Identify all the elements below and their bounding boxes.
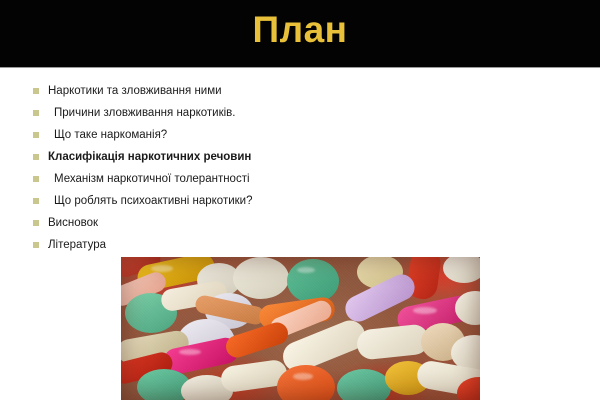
list-item[interactable]: Висновок — [33, 212, 463, 234]
list-item[interactable]: Механізм наркотичної толерантності — [33, 168, 463, 190]
list-item-label: Наркотики та зловживання ними — [48, 84, 222, 98]
bullet-square-icon — [33, 88, 39, 94]
list-item-label: Література — [48, 238, 106, 252]
pills-photo — [121, 257, 480, 400]
list-item-label: Класифікація наркотичних речовин — [48, 150, 251, 164]
list-item[interactable]: Що таке наркоманія? — [33, 124, 463, 146]
bullet-square-icon — [33, 132, 39, 138]
list-item-label: Що таке наркоманія? — [48, 128, 167, 142]
plan-list: Наркотики та зловживання ними Причини зл… — [33, 80, 463, 256]
bullet-square-icon — [33, 242, 39, 248]
bullet-square-icon — [33, 154, 39, 160]
list-item[interactable]: Причини зловживання наркотиків. — [33, 102, 463, 124]
list-item[interactable]: Що роблять психоактивні наркотики? — [33, 190, 463, 212]
bullet-square-icon — [33, 220, 39, 226]
page-title: План — [0, 0, 600, 67]
photo-vignette — [121, 257, 480, 400]
band-divider — [0, 67, 600, 68]
bullet-square-icon — [33, 176, 39, 182]
list-item[interactable]: Наркотики та зловживання ними — [33, 80, 463, 102]
bullet-square-icon — [33, 110, 39, 116]
list-item-label: Механізм наркотичної толерантності — [48, 172, 250, 186]
list-item-label: Висновок — [48, 216, 98, 230]
bullet-square-icon — [33, 198, 39, 204]
list-item-label: Причини зловживання наркотиків. — [48, 106, 235, 120]
list-item[interactable]: Класифікація наркотичних речовин — [33, 146, 463, 168]
list-item[interactable]: Література — [33, 234, 463, 256]
list-item-label: Що роблять психоактивні наркотики? — [48, 194, 253, 208]
